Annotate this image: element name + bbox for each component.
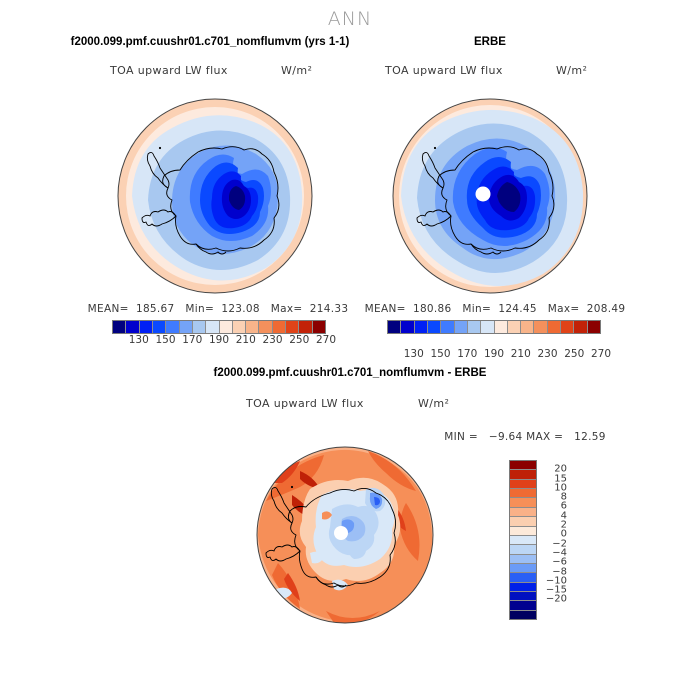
colorbar-swatch [388, 321, 401, 333]
colorbar-tick-label: −20 [539, 594, 567, 605]
colorbar-swatch [246, 321, 259, 333]
colorbar-tick-label: 170 [182, 334, 202, 346]
colorbar-swatch [510, 480, 536, 489]
colorbar-swatch [548, 321, 561, 333]
colorbar-tick-label: 130 [404, 348, 424, 360]
colorbar-swatch [401, 321, 414, 333]
colorbar-tick-label: 230 [262, 334, 282, 346]
colorbar-swatch [510, 508, 536, 517]
colorbar-swatch [510, 545, 536, 554]
units-label-model: W/m² [281, 64, 312, 77]
colorbar-swatch [561, 321, 574, 333]
colorbar-swatch [153, 321, 166, 333]
colorbar-swatch [574, 321, 587, 333]
colorbar-swatch [510, 527, 536, 536]
colorbar-swatch [510, 592, 536, 601]
colorbar-tick-label: 130 [129, 334, 149, 346]
colorbar-tick-label: 270 [591, 348, 611, 360]
colorbar-swatch [588, 321, 600, 333]
colorbar-tick-label: 190 [484, 348, 504, 360]
colorbar-ticks-obs: 130150170190210230250270 [387, 348, 601, 362]
colorbar-swatch [166, 321, 179, 333]
colorbar-swatch [510, 564, 536, 573]
colorbar-tick-label: 190 [209, 334, 229, 346]
colorbar-model[interactable] [112, 320, 326, 334]
polar-data-gap-obs [476, 187, 491, 202]
colorbar-swatch [510, 470, 536, 479]
variable-label-obs: TOA upward LW flux [385, 64, 503, 77]
colorbar-tick-label: 250 [564, 348, 584, 360]
colorbar-swatch [510, 517, 536, 526]
colorbar-swatch [206, 321, 219, 333]
colorbar-swatch [510, 601, 536, 610]
variable-label-model: TOA upward LW flux [110, 64, 228, 77]
panel-title-model: f2000.099.pmf.cuushr01.c701_nomflumvm (y… [10, 36, 410, 48]
stats-model: MEAN= 185.67 Min= 123.08 Max= 214.33 [66, 303, 370, 315]
colorbar-swatch [508, 321, 521, 333]
colorbar-swatch [220, 321, 233, 333]
colorbar-swatch [299, 321, 312, 333]
map-model[interactable] [102, 96, 328, 296]
colorbar-tick-label: 250 [289, 334, 309, 346]
colorbar-swatch [510, 573, 536, 582]
colorbar-swatch [180, 321, 193, 333]
colorbar-swatch [510, 536, 536, 545]
colorbar-swatch [534, 321, 547, 333]
colorbar-tick-label: 230 [537, 348, 557, 360]
colorbar-tick-label: 150 [155, 334, 175, 346]
stats-obs: MEAN= 180.86 Min= 124.45 Max= 208.49 [340, 303, 650, 315]
map-obs[interactable] [377, 96, 603, 296]
units-label-obs: W/m² [556, 64, 587, 77]
colorbar-swatch [510, 611, 536, 619]
colorbar-swatch [193, 321, 206, 333]
colorbar-ticks-model: 130150170190210230250270 [112, 334, 326, 348]
colorbar-swatch [286, 321, 299, 333]
colorbar-difference[interactable] [509, 460, 537, 620]
colorbar-swatch [140, 321, 153, 333]
panel-title-obs: ERBE [390, 36, 590, 48]
colorbar-tick-label: 170 [457, 348, 477, 360]
colorbar-swatch [510, 498, 536, 507]
colorbar-swatch [233, 321, 246, 333]
colorbar-swatch [481, 321, 494, 333]
colorbar-tick-label: 270 [316, 334, 336, 346]
colorbar-swatch [259, 321, 272, 333]
colorbar-swatch [428, 321, 441, 333]
map-difference[interactable] [248, 443, 454, 633]
colorbar-swatch [415, 321, 428, 333]
panel-title-difference: f2000.099.pmf.cuushr01.c701_nomflumvm - … [0, 367, 700, 379]
colorbar-tick-label: 210 [236, 334, 256, 346]
colorbar-swatch [441, 321, 454, 333]
colorbar-swatch [510, 461, 536, 470]
polar-data-gap-difference [334, 526, 348, 540]
colorbar-swatch [521, 321, 534, 333]
units-label-difference: W/m² [418, 397, 449, 410]
colorbar-swatch [510, 555, 536, 564]
colorbar-swatch [510, 489, 536, 498]
colorbar-swatch [495, 321, 508, 333]
colorbar-tick-label: 210 [511, 348, 531, 360]
colorbar-obs[interactable] [387, 320, 601, 334]
colorbar-tick-label: 150 [430, 348, 450, 360]
season-title: ANN [0, 8, 700, 30]
colorbar-swatch [455, 321, 468, 333]
colorbar-swatch [126, 321, 139, 333]
colorbar-swatch [510, 583, 536, 592]
colorbar-swatch [468, 321, 481, 333]
variable-label-difference: TOA upward LW flux [246, 397, 364, 410]
colorbar-swatch [313, 321, 325, 333]
colorbar-swatch [273, 321, 286, 333]
colorbar-ticks-difference: 20151086420−2−4−6−8−10−15−20 [539, 460, 569, 618]
stats-difference: MIN = −9.64 MAX = 12.59 [430, 431, 620, 443]
colorbar-swatch [113, 321, 126, 333]
